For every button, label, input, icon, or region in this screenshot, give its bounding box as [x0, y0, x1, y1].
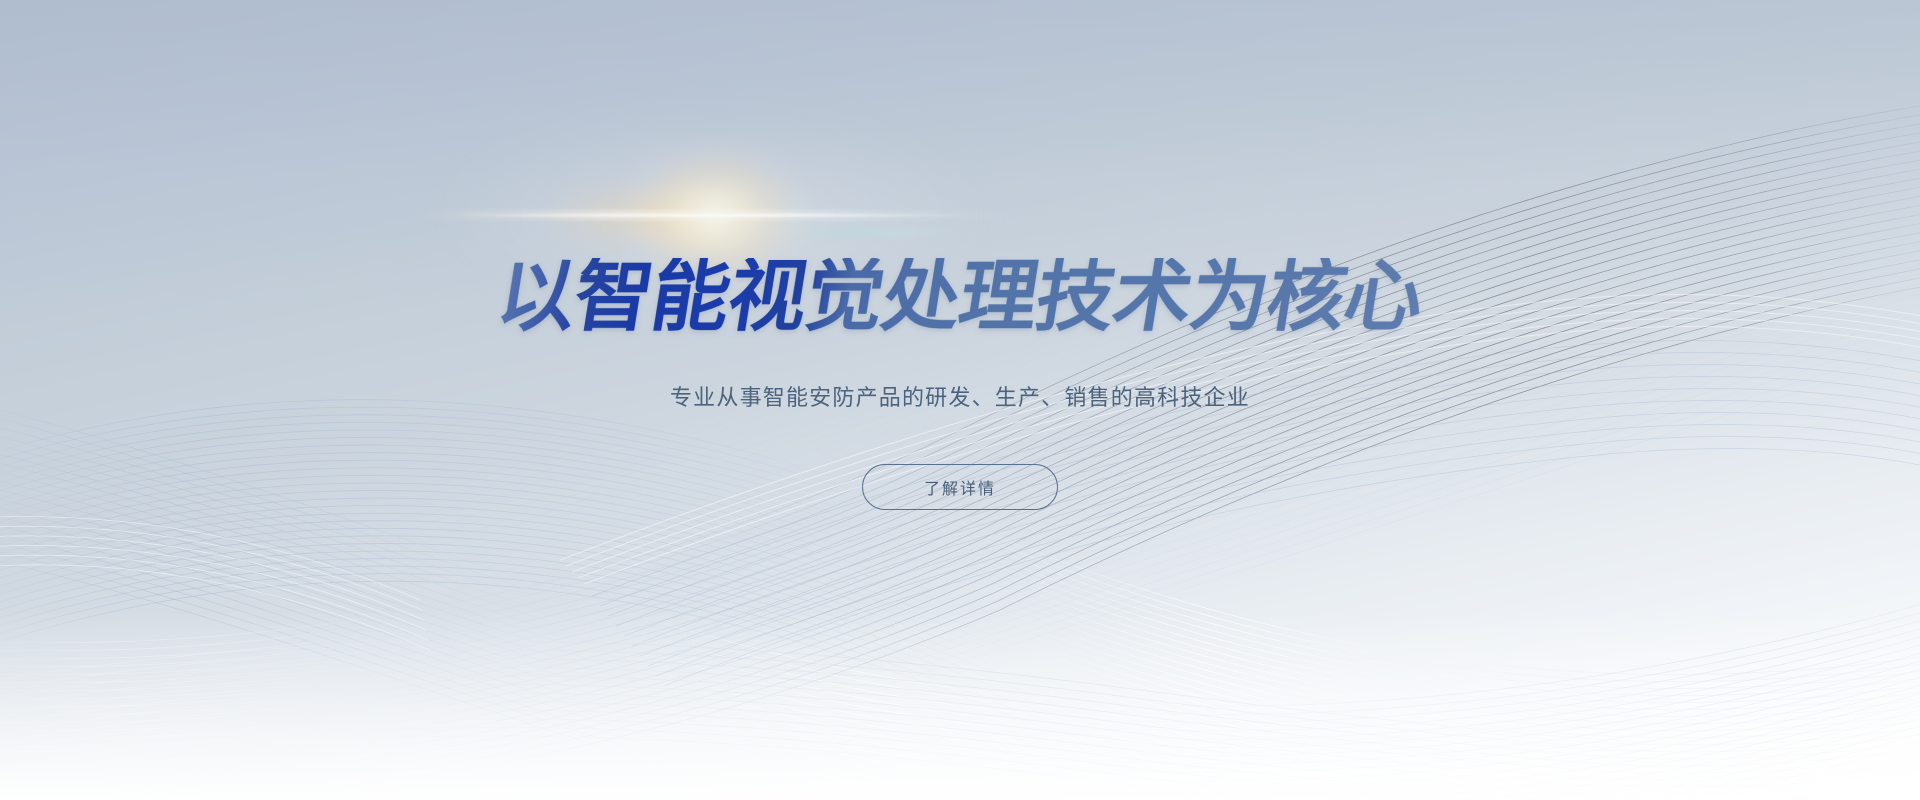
hero-content: 以智能视觉处理技术为核心 专业从事智能安防产品的研发、生产、销售的高科技企业 了…: [0, 0, 1920, 800]
hero-banner: 以智能视觉处理技术为核心 专业从事智能安防产品的研发、生产、销售的高科技企业 了…: [0, 0, 1920, 800]
cta-container: 了解详情: [862, 464, 1058, 510]
learn-more-button[interactable]: 了解详情: [862, 464, 1058, 510]
hero-headline: 以智能视觉处理技术为核心: [492, 258, 1428, 336]
hero-subtitle: 专业从事智能安防产品的研发、生产、销售的高科技企业: [670, 380, 1250, 412]
